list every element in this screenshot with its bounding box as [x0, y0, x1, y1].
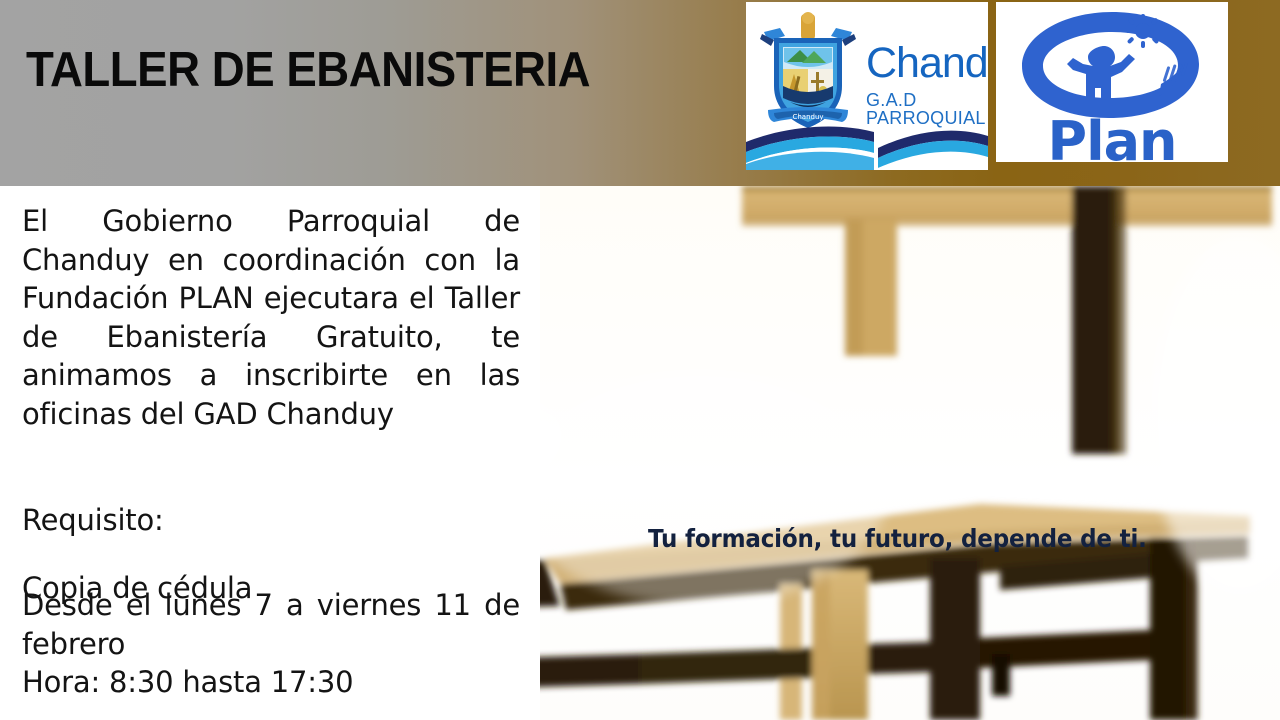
requisito-label: Requisito:	[22, 501, 532, 540]
chanduy-logo: Chanduy Chanduy G.A.D PARROQUIAL	[746, 2, 988, 170]
page-title: TALLER DE EBANISTERIA	[26, 46, 590, 95]
poster-canvas: TALLER DE EBANISTERIA	[0, 0, 1280, 720]
tagline-text: Tu formación, tu futuro, depende de ti.	[648, 526, 1147, 551]
plan-wordmark: Plan	[1048, 115, 1177, 162]
text-panel: El Gobierno Parroquial de Chanduy en coo…	[0, 186, 540, 720]
header-band: TALLER DE EBANISTERIA	[0, 0, 1280, 186]
fechas-text: Desde el lunes 7 a viernes 11 de febrero	[22, 586, 520, 663]
hora-text: Hora: 8:30 hasta 17:30	[22, 663, 532, 702]
intro-paragraph: El Gobierno Parroquial de Chanduy en coo…	[22, 202, 520, 433]
plan-child-ring-icon	[1009, 6, 1215, 124]
chanduy-wave-icon	[746, 112, 988, 170]
chanduy-wordmark: Chanduy	[866, 42, 988, 85]
fechas-block: Desde el lunes 7 a viernes 11 de febrero…	[22, 586, 532, 702]
plan-logo: Plan	[996, 2, 1228, 162]
